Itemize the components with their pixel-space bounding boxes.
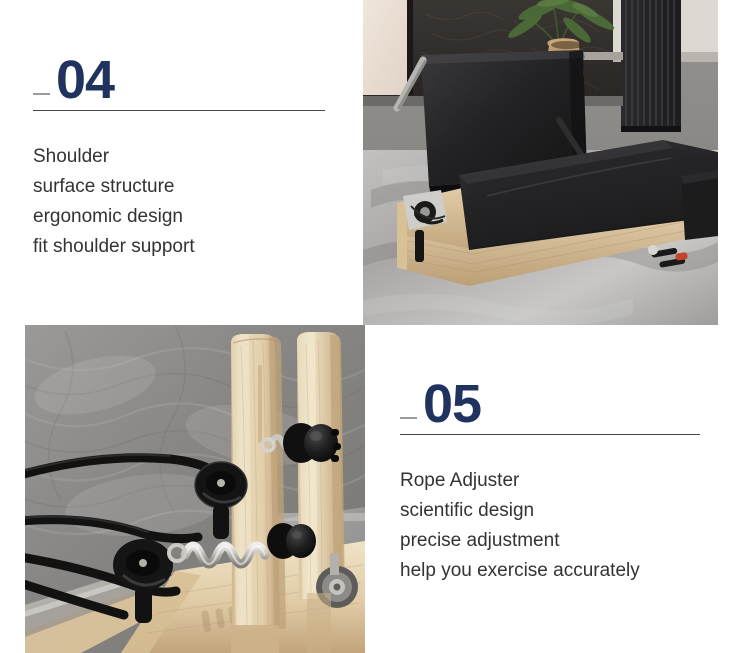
product-feature-page: 04 Shoulder surface structure ergonomic …: [0, 0, 750, 653]
adjuster-knob-upper: [283, 423, 341, 463]
feature-panel-05: 05 Rope Adjuster scientific design preci…: [400, 380, 705, 586]
panel-04-number: 04: [56, 56, 114, 106]
reformer-bench-illustration: [363, 0, 718, 325]
panel-04-caption: Shoulder surface structure ergonomic des…: [33, 142, 333, 262]
rope-adjuster-illustration: [25, 325, 365, 653]
caption-line: help you exercise accurately: [400, 556, 705, 586]
photo-reformer-bench: [363, 0, 718, 325]
small-dash-icon: [33, 93, 50, 95]
small-dash-icon: [400, 417, 417, 419]
caption-line: surface structure: [33, 172, 333, 202]
caption-line: fit shoulder support: [33, 232, 333, 262]
caption-line: Shoulder: [33, 142, 333, 172]
panel-05-number: 05: [423, 380, 481, 430]
panel-05-number-row: 05: [400, 380, 705, 430]
caption-line: scientific design: [400, 496, 705, 526]
caption-line: ergonomic design: [33, 202, 333, 232]
panel-05-caption: Rope Adjuster scientific design precise …: [400, 466, 705, 586]
panel-04-number-row: 04: [33, 56, 333, 106]
adjuster-knob-lower: [267, 523, 316, 559]
caption-line: precise adjustment: [400, 526, 705, 556]
caption-line: Rope Adjuster: [400, 466, 705, 496]
photo-rope-adjuster: [25, 325, 365, 653]
feature-panel-04: 04 Shoulder surface structure ergonomic …: [33, 56, 333, 262]
